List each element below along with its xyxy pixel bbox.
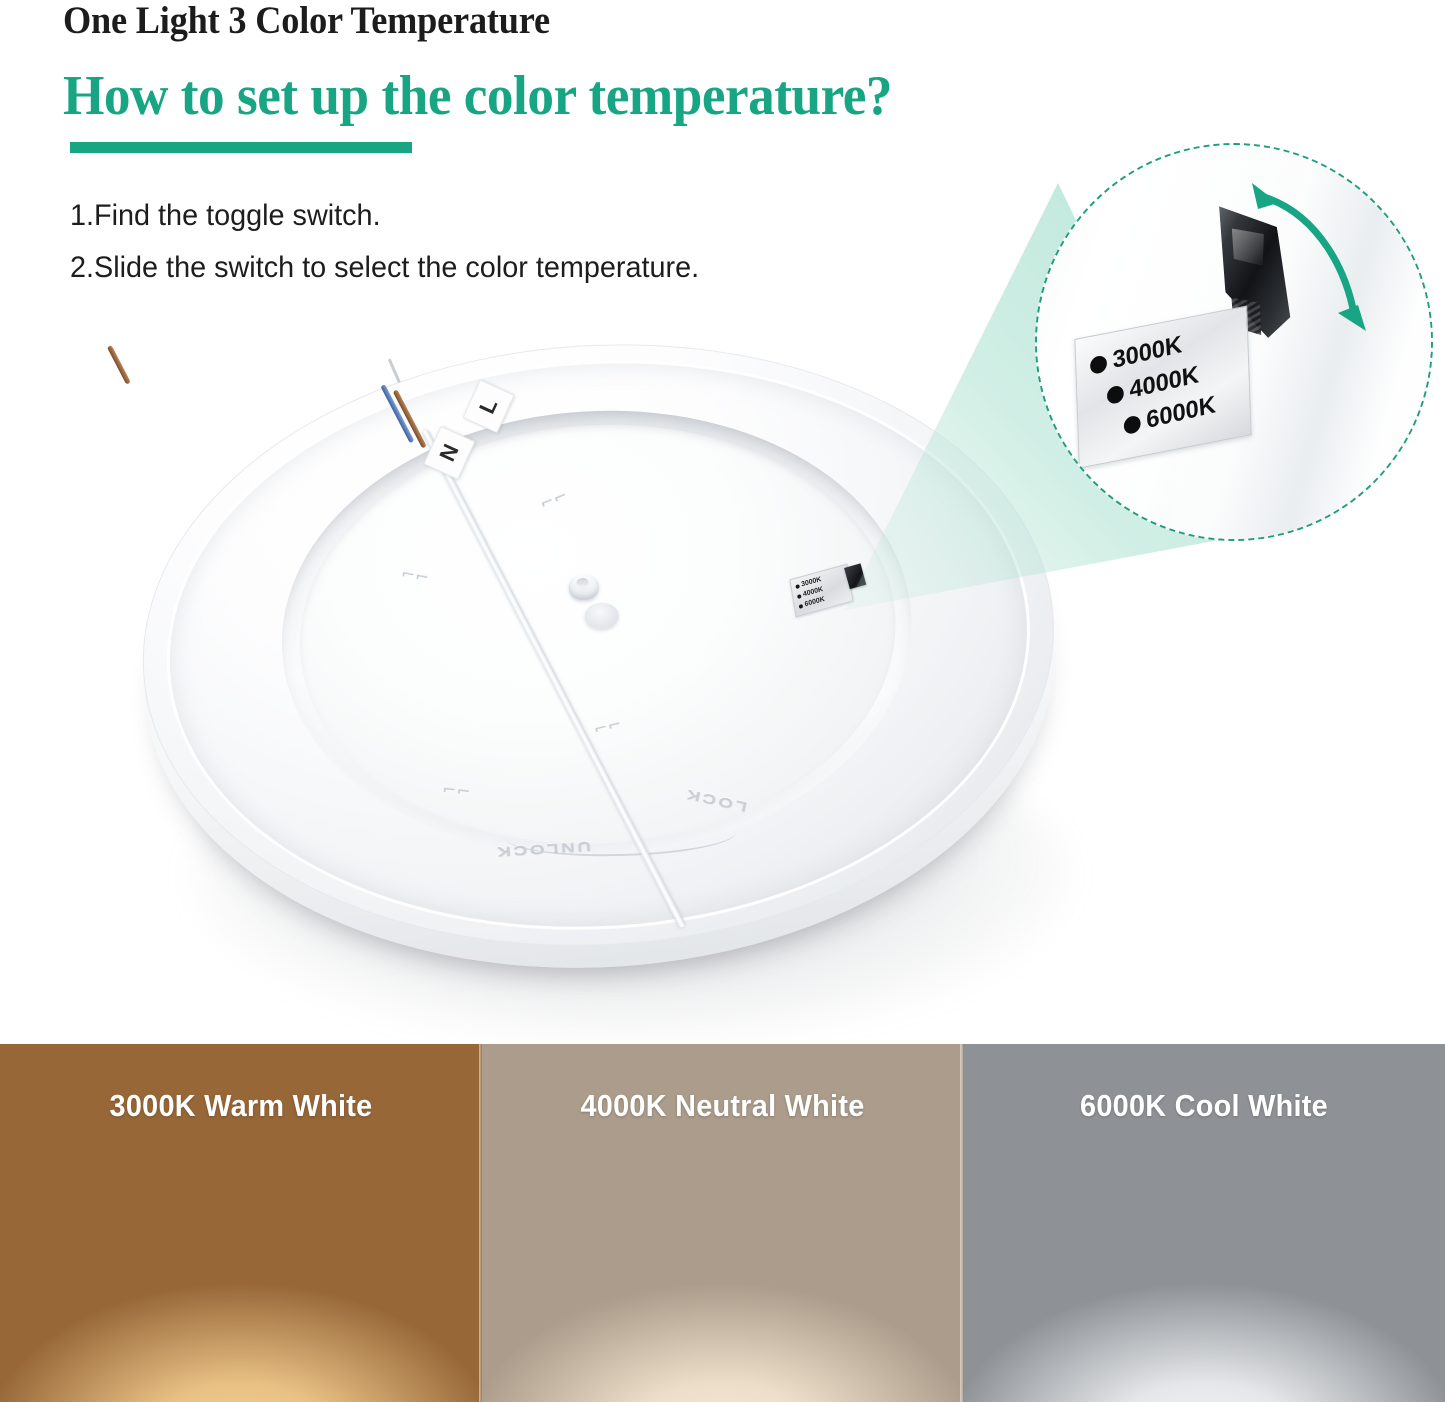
swatch-4000k: 4000K Neutral White xyxy=(482,1044,963,1402)
swatch-label-3000k: 3000K Warm White xyxy=(17,1088,465,1124)
swatch-3000k: 3000K Warm White xyxy=(0,1044,482,1402)
bullet-dot-icon xyxy=(799,604,804,609)
page-title: One Light 3 Color Temperature xyxy=(63,0,550,43)
bullet-dot-icon xyxy=(1106,384,1124,405)
live-wire-brown-lower xyxy=(107,345,131,385)
bullet-dot-icon xyxy=(1123,414,1141,435)
swatch-label-4000k: 4000K Neutral White xyxy=(499,1088,946,1124)
bullet-dot-icon xyxy=(795,584,800,589)
swatch-6000k: 6000K Cool White xyxy=(963,1044,1445,1402)
bullet-dot-icon xyxy=(1090,354,1108,375)
bare-wire-strand xyxy=(388,358,401,383)
emboss-bracket-mark: ⌐⌐ xyxy=(442,782,472,800)
page-subtitle: How to set up the color temperature? xyxy=(63,64,892,128)
slide-direction-arrow-icon xyxy=(1242,163,1392,353)
sticker-value-6000k: 6000K xyxy=(1146,393,1217,433)
bullet-dot-icon xyxy=(797,594,802,599)
ceiling-light-fixture: ⌐⌐ ⌐⌐ ⌐⌐ ⌐⌐ UNLOCK LOCK L N 3000K 4000K xyxy=(115,287,1085,1023)
magnifier-circle: 3000K 4000K 6000K xyxy=(1035,143,1433,541)
color-temperature-swatches: 3000K Warm White 4000K Neutral White 600… xyxy=(0,1044,1445,1402)
swatch-label-6000k: 6000K Cool White xyxy=(980,1088,1428,1124)
